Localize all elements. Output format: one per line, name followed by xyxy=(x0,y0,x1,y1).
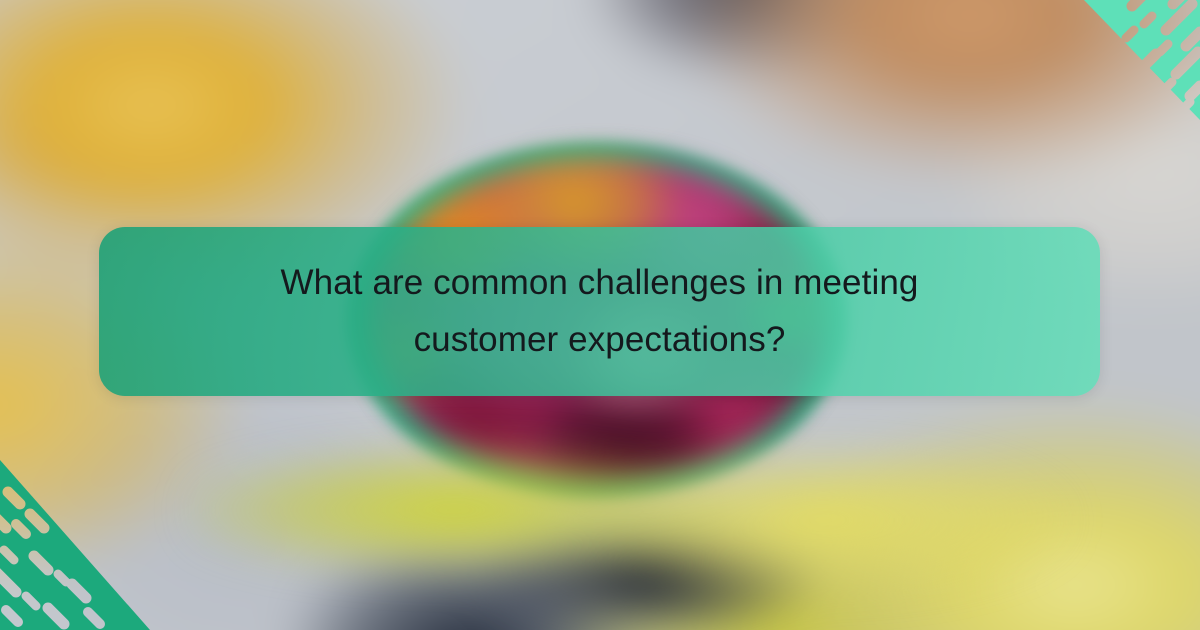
question-text: What are common challenges in meeting cu… xyxy=(250,255,950,368)
question-card-graphic: What are common challenges in meeting cu… xyxy=(0,0,1200,630)
question-card: What are common challenges in meeting cu… xyxy=(99,227,1100,396)
food-garnish xyxy=(190,430,1070,630)
